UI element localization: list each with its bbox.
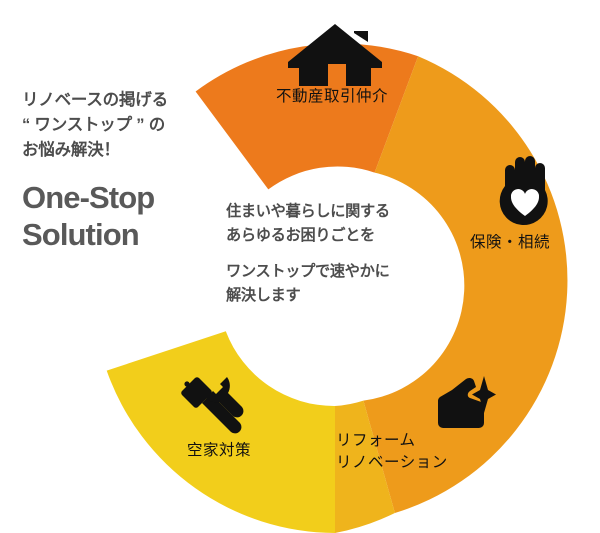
center-copy-block: 住まいや暮らしに関する あらゆるお困りごとを ワンストップで速やかに 解決します: [226, 200, 441, 307]
segment-label-realestate: 不動産取引仲介: [242, 86, 422, 108]
infographic-canvas: リノベースの掲げる “ ワンストップ ” の お悩み解決！ One-Stop S…: [0, 0, 600, 533]
center-paragraph-1: 住まいや暮らしに関する あらゆるお困りごとを: [226, 200, 441, 247]
hammer-wrench-icon: [178, 374, 246, 434]
hand-heart-icon: [495, 156, 557, 228]
lead-copy: リノベースの掲げる “ ワンストップ ” の お悩み解決！: [22, 88, 237, 163]
page-title: One-Stop Solution: [22, 180, 237, 253]
segment-label-insurance: 保険・相続: [470, 232, 590, 254]
center-paragraph-2: ワンストップで速やかに 解決します: [226, 260, 441, 307]
house-icon: [288, 24, 382, 86]
segment-label-akiya: 空家対策: [154, 440, 284, 462]
segment-label-reform: リフォーム リノベーション: [336, 430, 526, 474]
headline-block: リノベースの掲げる “ ワンストップ ” の お悩み解決！ One-Stop S…: [22, 88, 237, 253]
house-sparkle-icon: [432, 376, 496, 430]
